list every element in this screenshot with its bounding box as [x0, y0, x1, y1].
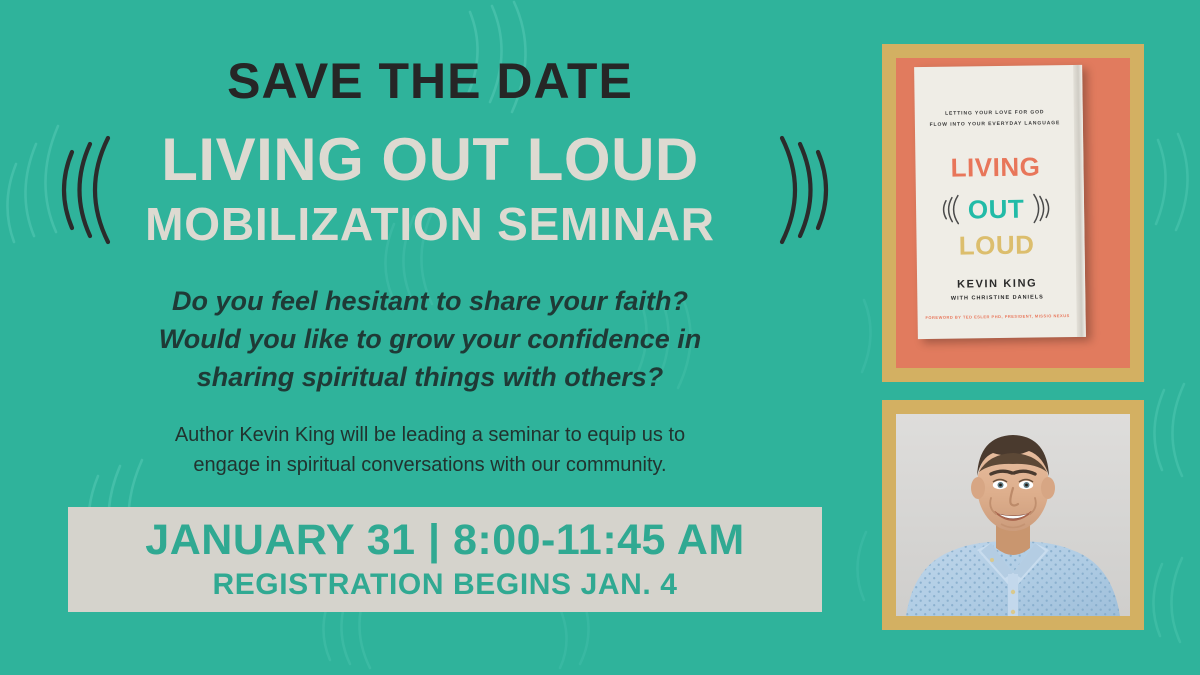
event-subtitle: MOBILIZATION SEMINAR — [0, 199, 860, 250]
date-banner: JANUARY 31 | 8:00-11:45 AM REGISTRATION … — [68, 507, 822, 612]
book-soundwave-right-icon — [1031, 191, 1051, 225]
event-date-time: JANUARY 31 | 8:00-11:45 AM — [145, 518, 744, 563]
question-line-3: sharing spiritual things with others? — [60, 359, 800, 397]
headshot-illustration — [896, 414, 1130, 616]
book-frame: LETTING YOUR LOVE FOR GOD FLOW INTO YOUR… — [882, 44, 1144, 382]
book-soundwave-left-icon — [941, 193, 961, 227]
description-block: Author Kevin King will be leading a semi… — [100, 420, 760, 480]
save-the-date-poster: SAVE THE DATE LIVING OUT LOUD MOBILIZATI… — [0, 0, 1200, 675]
book-coauthor: WITH CHRISTINE DANIELS — [917, 294, 1077, 302]
speaker-headshot — [896, 414, 1130, 616]
book-title-loud: LOUD — [916, 231, 1076, 259]
poster-left-column: SAVE THE DATE LIVING OUT LOUD MOBILIZATI… — [0, 0, 860, 675]
portrait-frame — [882, 400, 1144, 630]
question-block: Do you feel hesitant to share your faith… — [60, 283, 800, 396]
description-line-2: engage in spiritual conversations with o… — [100, 450, 760, 480]
question-line-1: Do you feel hesitant to share your faith… — [60, 283, 800, 321]
kicker-save-the-date: SAVE THE DATE — [0, 56, 860, 106]
book-title-out-row: OUT — [916, 191, 1076, 227]
book-title-out: OUT — [968, 196, 1025, 223]
book-foreword-credit: FOREWORD BY TED ESLER PHD, PRESIDENT, MI… — [918, 313, 1078, 320]
book-tagline-line-2: FLOW INTO YOUR EVERYDAY LANGUAGE — [915, 117, 1075, 130]
description-line-1: Author Kevin King will be leading a semi… — [100, 420, 760, 450]
registration-info: REGISTRATION BEGINS JAN. 4 — [212, 568, 677, 601]
book-tagline: LETTING YOUR LOVE FOR GOD FLOW INTO YOUR… — [915, 107, 1075, 130]
event-title-block: LIVING OUT LOUD MOBILIZATION SEMINAR — [0, 128, 860, 249]
book-author: KEVIN KING — [917, 277, 1077, 291]
event-title: LIVING OUT LOUD — [0, 128, 860, 193]
question-line-2: Would you like to grow your confidence i… — [60, 321, 800, 359]
book-title-living: LIVING — [915, 153, 1075, 181]
book-cover-image: LETTING YOUR LOVE FOR GOD FLOW INTO YOUR… — [914, 65, 1086, 339]
